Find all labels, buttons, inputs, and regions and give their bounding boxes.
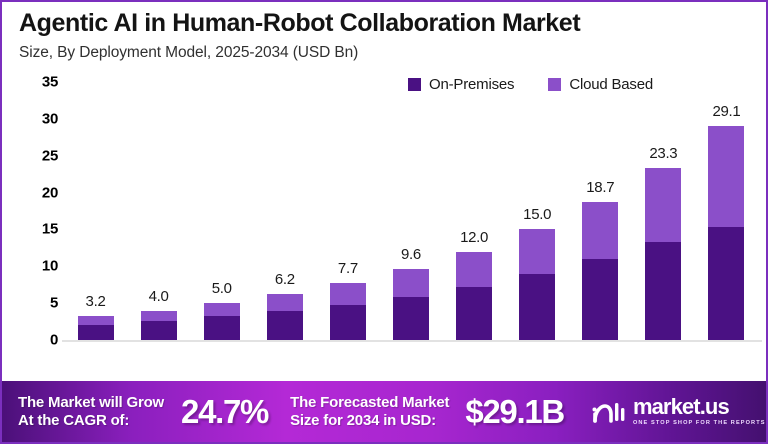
cagr-label-line1: The Market will Grow [18,394,164,412]
bar-segment-cloud-based[interactable] [645,168,681,242]
page-title: Agentic AI in Human-Robot Collaboration … [19,10,768,37]
bar-segment-cloud-based[interactable] [519,229,555,273]
bar-segment-on-premises[interactable] [141,321,177,340]
bar-segment-on-premises[interactable] [204,316,240,340]
bar-value-label: 7.7 [338,260,358,277]
bar-value-label: 12.0 [460,229,488,246]
bar-column[interactable]: 7.7 [330,283,366,340]
bar-column[interactable]: 29.1 [708,126,744,341]
bar-column[interactable]: 12.0 [456,252,492,340]
bar-column[interactable]: 9.6 [393,269,429,340]
bar-value-label: 23.3 [649,145,677,162]
bar-column[interactable]: 3.2 [78,316,114,340]
cagr-label: The Market will Grow At the CAGR of: [18,394,164,429]
chart-header: Agentic AI in Human-Robot Collaboration … [2,2,768,72]
bar-value-label: 9.6 [401,246,421,263]
bar-segment-cloud-based[interactable] [267,294,303,311]
bar-segment-on-premises[interactable] [645,242,681,340]
brand-tagline: ONE STOP SHOP FOR THE REPORTS [633,421,766,427]
market-us-logo-icon [592,399,626,425]
chart-subtitle: Size, By Deployment Model, 2025-2034 (US… [19,44,768,62]
bar-segment-on-premises[interactable] [393,297,429,340]
bar-segment-on-premises[interactable] [582,259,618,340]
bar-segment-cloud-based[interactable] [582,202,618,259]
y-axis: 05101520253035 [16,82,58,340]
brand-text: market.us ONE STOP SHOP FOR THE REPORTS [633,396,766,427]
bar-segment-cloud-based[interactable] [330,283,366,304]
y-axis-tick: 30 [42,110,58,127]
y-axis-tick: 0 [50,332,58,349]
cagr-label-line2: At the CAGR of: [18,412,164,430]
brand-name: market.us [633,396,766,418]
forecast-label: The Forecasted Market Size for 2034 in U… [290,394,449,429]
market-chart-card: Agentic AI in Human-Robot Collaboration … [0,0,768,444]
bar-segment-cloud-based[interactable] [456,252,492,287]
bar-value-label: 29.1 [712,103,740,120]
y-axis-tick: 25 [42,147,58,164]
bar-segment-on-premises[interactable] [519,274,555,340]
bar-column[interactable]: 4.0 [141,311,177,340]
bar-value-label: 5.0 [212,280,232,297]
axis-baseline [62,340,762,342]
bar-segment-on-premises[interactable] [330,305,366,340]
bar-value-label: 15.0 [523,206,551,223]
bar-column[interactable]: 23.3 [645,168,681,340]
bar-segment-cloud-based[interactable] [708,126,744,228]
bar-column[interactable]: 6.2 [267,294,303,340]
bar-segment-on-premises[interactable] [456,287,492,340]
y-axis-tick: 15 [42,221,58,238]
brand-logo[interactable]: market.us ONE STOP SHOP FOR THE REPORTS [592,396,766,427]
footer-banner: The Market will Grow At the CAGR of: 24.… [2,381,768,442]
bar-value-label: 18.7 [586,179,614,196]
bar-column[interactable]: 18.7 [582,202,618,340]
cagr-value: 24.7% [181,393,268,431]
bar-column[interactable]: 5.0 [204,303,240,340]
bar-segment-on-premises[interactable] [267,311,303,340]
bar-segment-on-premises[interactable] [78,325,114,340]
bar-value-label: 3.2 [86,293,106,310]
bar-value-label: 6.2 [275,271,295,288]
y-axis-tick: 35 [42,74,58,91]
bar-segment-cloud-based[interactable] [78,316,114,324]
forecast-value: $29.1B [465,393,564,431]
chart-plot-area: 05101520253035 3.24.05.06.27.79.612.015.… [2,72,768,382]
bar-segment-cloud-based[interactable] [204,303,240,316]
y-axis-tick: 20 [42,184,58,201]
bar-segment-on-premises[interactable] [708,227,744,340]
forecast-label-line2: Size for 2034 in USD: [290,412,449,430]
forecast-label-line1: The Forecasted Market [290,394,449,412]
bar-segment-cloud-based[interactable] [393,269,429,296]
y-axis-tick: 5 [50,295,58,312]
bar-column[interactable]: 15.0 [519,229,555,340]
bar-value-label: 4.0 [149,288,169,305]
y-axis-tick: 10 [42,258,58,275]
bar-segment-cloud-based[interactable] [141,311,177,321]
bars-container: 3.24.05.06.27.79.612.015.018.723.329.1 [64,82,758,340]
